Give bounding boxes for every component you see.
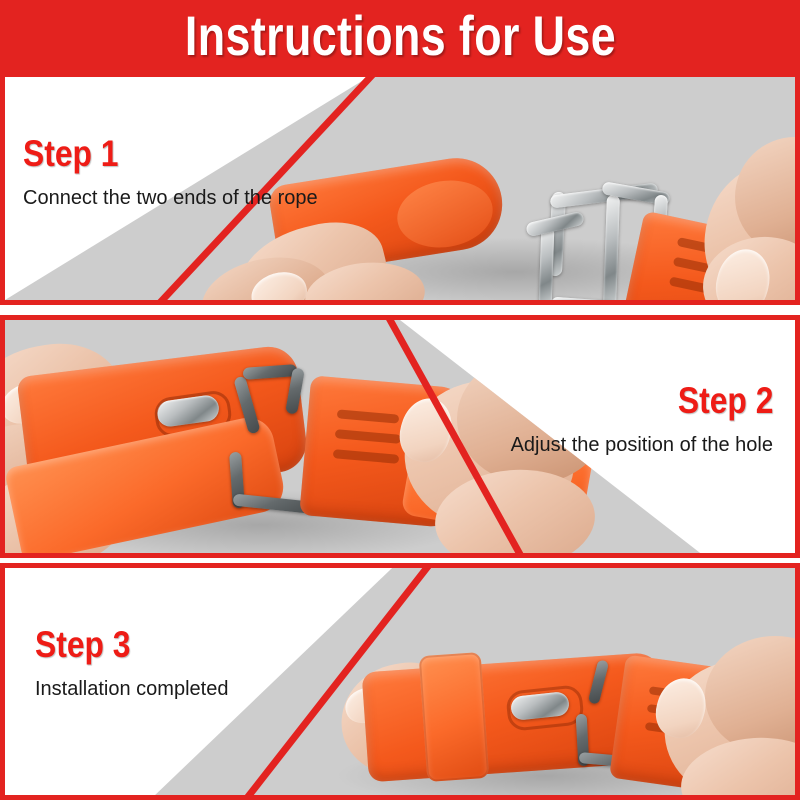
- step-2-label: Step 2: [547, 382, 773, 420]
- step-2-description: Adjust the position of the hole: [511, 432, 773, 458]
- page-title: Instructions for Use: [184, 8, 615, 64]
- step-3-caption: Step 3 Installation completed: [35, 626, 228, 702]
- step-2-panel-inner: Step 2 Adjust the position of the hole: [5, 320, 795, 553]
- step-3-description: Installation completed: [35, 676, 228, 702]
- step-1-caption: Step 1 Connect the two ends of the rope: [23, 135, 318, 211]
- step-1-panel: Step 1 Connect the two ends of the rope: [0, 72, 800, 305]
- step-1-description: Connect the two ends of the rope: [23, 185, 318, 211]
- step-3-panel-inner: Step 3 Installation completed: [5, 568, 795, 795]
- step-1-label: Step 1: [23, 135, 276, 173]
- step-3-panel: Step 3 Installation completed: [0, 563, 800, 800]
- step-1-panel-inner: Step 1 Connect the two ends of the rope: [5, 77, 795, 300]
- step-3-label: Step 3: [35, 626, 201, 664]
- header-banner: Instructions for Use: [0, 0, 800, 72]
- step-2-caption: Step 2 Adjust the position of the hole: [511, 382, 773, 458]
- instruction-infographic: Instructions for Use: [0, 0, 800, 800]
- step-2-panel: Step 2 Adjust the position of the hole: [0, 315, 800, 558]
